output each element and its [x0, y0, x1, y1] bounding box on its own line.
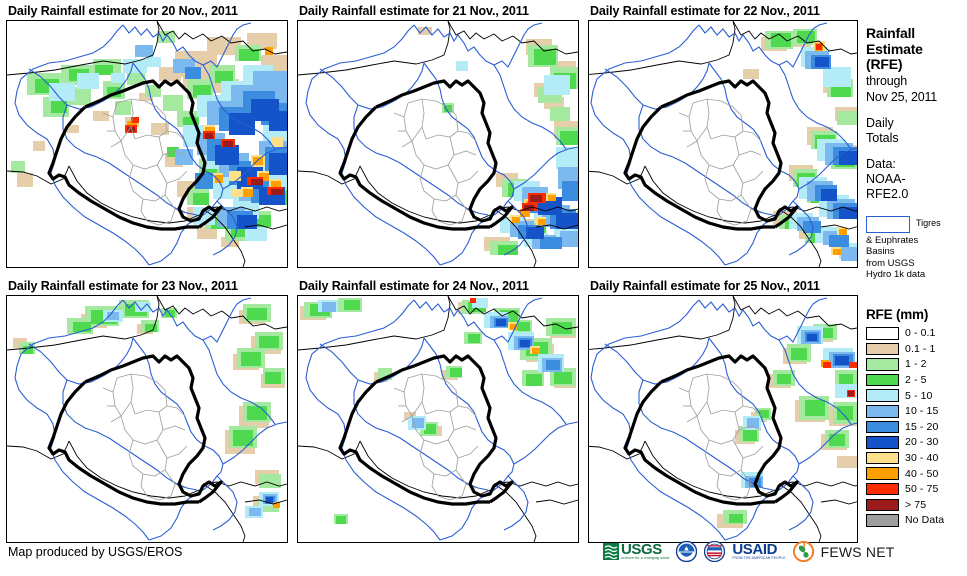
map-canvas-25nov	[589, 296, 857, 542]
map-panel-21nov: Daily Rainfall estimate for 21 Nov., 201…	[297, 4, 579, 268]
totals-block: Daily Totals	[866, 116, 967, 146]
basin-label-line3: Basins	[866, 246, 967, 258]
panel-title-22nov: Daily Rainfall estimate for 22 Nov., 201…	[590, 4, 858, 18]
basin-label-line1: Tigres	[916, 218, 941, 228]
usaid-wordmark: USAID	[732, 542, 785, 557]
legend-row: 20 - 30	[866, 435, 967, 451]
legend-label: 40 - 50	[905, 468, 938, 480]
legend-swatch	[866, 389, 899, 402]
map-frame-25nov[interactable]	[588, 295, 858, 543]
legend-swatch	[866, 452, 899, 465]
legend-row: 10 - 15	[866, 403, 967, 419]
data-line2: NOAA-	[866, 172, 967, 187]
legend-title-line2: Estimate	[866, 41, 923, 57]
map-panel-25nov: Daily Rainfall estimate for 25 Nov., 201…	[588, 279, 858, 543]
usgs-logo[interactable]: USGS science for a changing world	[603, 542, 669, 561]
map-canvas-23nov	[7, 296, 287, 542]
legend-swatch	[866, 514, 899, 527]
legend-through-date: Nov 25, 2011	[866, 90, 937, 104]
legend-swatch	[866, 374, 899, 387]
basin-label-line2: & Euphrates	[866, 235, 967, 247]
panel-title-24nov: Daily Rainfall estimate for 24 Nov., 201…	[299, 279, 579, 293]
map-frame-24nov[interactable]	[297, 295, 579, 543]
rfe-legend-list: 0 - 0.10.1 - 11 - 22 - 55 - 1010 - 1515 …	[866, 326, 967, 529]
legend-title-line1: Rainfall	[866, 25, 915, 41]
data-line1: Data:	[866, 157, 967, 172]
map-canvas-21nov	[298, 21, 578, 267]
legend-label: > 75	[905, 499, 926, 511]
usaid-tagline: FROM THE AMERICAN PEOPLE	[732, 557, 785, 560]
map-panel-24nov: Daily Rainfall estimate for 24 Nov., 201…	[297, 279, 579, 543]
map-panel-22nov: Daily Rainfall estimate for 22 Nov., 201…	[588, 4, 858, 268]
legend-row: 2 - 5	[866, 372, 967, 388]
panel-title-21nov: Daily Rainfall estimate for 21 Nov., 201…	[299, 4, 579, 18]
usgs-tagline: science for a changing world	[621, 557, 669, 561]
legend-swatch	[866, 483, 899, 496]
basin-label-line5: Hydro 1k data	[866, 269, 967, 281]
map-canvas-20nov	[7, 21, 287, 267]
legend-row: 1 - 2	[866, 357, 967, 373]
map-canvas-24nov	[298, 296, 578, 542]
side-legend-column: Rainfall Estimate (RFE) through Nov 25, …	[866, 26, 967, 528]
legend-label: 30 - 40	[905, 452, 938, 464]
legend-swatch	[866, 499, 899, 512]
legend-swatch	[866, 467, 899, 480]
legend-swatch	[866, 358, 899, 371]
map-frame-20nov[interactable]	[6, 20, 288, 268]
map-frame-23nov[interactable]	[6, 295, 288, 543]
legend-row: 40 - 50	[866, 466, 967, 482]
legend-row: 0 - 0.1	[866, 326, 967, 342]
map-panel-23nov: Daily Rainfall estimate for 23 Nov., 201…	[6, 279, 288, 543]
legend-swatch	[866, 421, 899, 434]
map-canvas-22nov	[589, 21, 857, 267]
legend-row: > 75	[866, 497, 967, 513]
legend-label: 0 - 0.1	[905, 327, 935, 339]
legend-swatch	[866, 436, 899, 449]
usaid-logo[interactable]: USAID FROM THE AMERICAN PEOPLE	[732, 542, 785, 560]
map-credit: Map produced by USGS/EROS	[8, 545, 182, 559]
legend-label: 20 - 30	[905, 436, 938, 448]
legend-row: 30 - 40	[866, 450, 967, 466]
basin-label-line4: from USGS	[866, 258, 967, 270]
noaa-logo[interactable]	[676, 541, 697, 562]
legend-label: 50 - 75	[905, 483, 938, 495]
usgs-wave-icon	[603, 543, 619, 560]
legend-label: 10 - 15	[905, 405, 938, 417]
legend-swatch	[866, 343, 899, 356]
legend-swatch	[866, 405, 899, 418]
legend-label: 0.1 - 1	[905, 343, 935, 355]
usaid-seal[interactable]	[704, 541, 725, 562]
rfe-legend-title: RFE (mm)	[866, 307, 967, 322]
totals-line1: Daily	[866, 116, 967, 131]
legend-through-label: through	[866, 74, 907, 88]
map-frame-22nov[interactable]	[588, 20, 858, 268]
legend-label: 2 - 5	[905, 374, 927, 386]
data-source-block: Data: NOAA- RFE2.0	[866, 157, 967, 202]
legend-row: No Data	[866, 513, 967, 529]
legend-row: 15 - 20	[866, 419, 967, 435]
basin-swatch	[866, 216, 910, 233]
fewsnet-wordmark: FEWS NET	[821, 544, 895, 560]
data-line3: RFE2.0	[866, 187, 967, 202]
legend-title-line3: (RFE)	[866, 56, 902, 72]
basin-key: Tigres	[866, 216, 967, 234]
fewsnet-globe-icon[interactable]	[793, 541, 814, 562]
totals-line2: Totals	[866, 131, 967, 146]
legend-row: 0.1 - 1	[866, 341, 967, 357]
legend-label: 15 - 20	[905, 421, 938, 433]
rainfall-map-page: Daily Rainfall estimate for 20 Nov., 201…	[0, 0, 967, 576]
basin-caption: & Euphrates Basins from USGS Hydro 1k da…	[866, 235, 967, 281]
panel-title-25nov: Daily Rainfall estimate for 25 Nov., 201…	[590, 279, 858, 293]
legend-main-title: Rainfall Estimate (RFE) through Nov 25, …	[866, 26, 967, 105]
legend-swatch	[866, 327, 899, 340]
map-frame-21nov[interactable]	[297, 20, 579, 268]
legend-label: 5 - 10	[905, 390, 932, 402]
panel-title-20nov: Daily Rainfall estimate for 20 Nov., 201…	[8, 4, 288, 18]
agency-logos: USGS science for a changing world USAID …	[603, 541, 895, 562]
map-panel-20nov: Daily Rainfall estimate for 20 Nov., 201…	[6, 4, 288, 268]
legend-label: 1 - 2	[905, 358, 927, 370]
panel-title-23nov: Daily Rainfall estimate for 23 Nov., 201…	[8, 279, 288, 293]
usgs-wordmark: USGS	[621, 542, 669, 557]
legend-label: No Data	[905, 514, 944, 526]
legend-row: 50 - 75	[866, 481, 967, 497]
legend-row: 5 - 10	[866, 388, 967, 404]
